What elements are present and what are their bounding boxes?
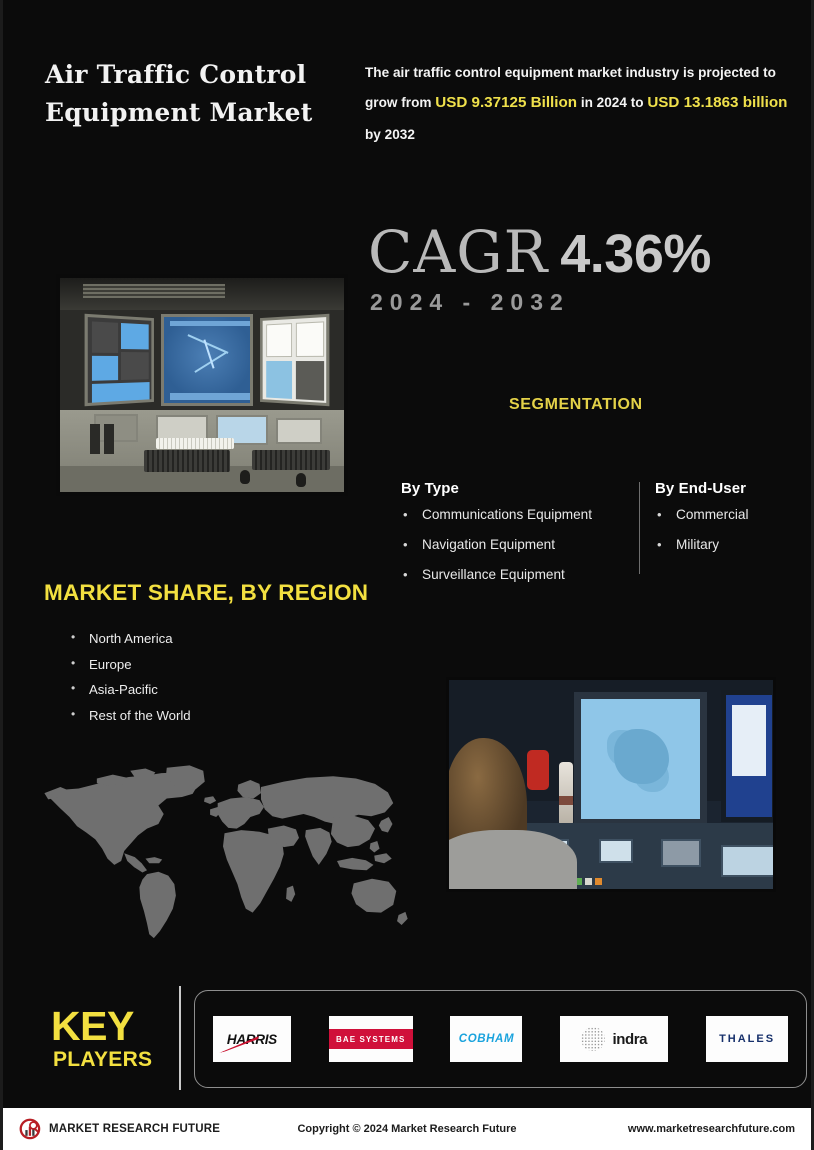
list-item: •North America	[69, 632, 191, 647]
logo-thales[interactable]: THALES	[706, 1016, 788, 1062]
bullet-icon: •	[403, 508, 408, 522]
bullet-icon: •	[71, 682, 75, 695]
list-item: •Surveillance Equipment	[401, 568, 592, 583]
bullet-icon: •	[403, 568, 408, 582]
cagr-block: CAGR4.36%	[368, 218, 711, 286]
by-end-user-heading: By End-User	[655, 480, 749, 497]
atc-workstation-photo	[56, 274, 348, 496]
list-item: •Rest of the World	[69, 709, 191, 724]
page-title: Air Traffic Control Equipment Market	[45, 56, 345, 132]
region-item-2: Asia-Pacific	[89, 682, 158, 697]
by-type-heading: By Type	[401, 480, 592, 497]
region-item-1: Europe	[89, 657, 132, 672]
world-map	[33, 760, 413, 945]
market-summary-text: The air traffic control equipment market…	[365, 58, 801, 149]
segmentation-column-by-type: By Type •Communications Equipment •Navig…	[401, 480, 592, 598]
by-end-user-item-1: Military	[676, 537, 719, 552]
bullet-icon: •	[657, 538, 662, 552]
cagr-period: 2024 - 2032	[370, 289, 570, 316]
bullet-icon: •	[71, 657, 75, 670]
key-players-label-top: KEY	[51, 1003, 134, 1050]
list-item: •Navigation Equipment	[401, 538, 592, 553]
summary-part-2: in 2024 to	[577, 95, 647, 110]
segmentation-heading: SEGMENTATION	[509, 396, 643, 414]
cagr-label: CAGR	[368, 218, 548, 286]
bullet-icon: •	[71, 708, 75, 721]
list-item: •Asia-Pacific	[69, 683, 191, 698]
segmentation-divider	[639, 482, 640, 574]
summary-part-3: by 2032	[365, 127, 415, 142]
indra-dot-circle-icon	[581, 1027, 605, 1051]
by-end-user-item-0: Commercial	[676, 507, 749, 522]
market-share-heading: MARKET SHARE, BY REGION	[44, 580, 368, 606]
bullet-icon: •	[657, 508, 662, 522]
list-item: •Commercial	[655, 508, 749, 523]
region-item-0: North America	[89, 631, 173, 646]
logo-cobham-text: COBHAM	[459, 1033, 514, 1045]
by-type-list: •Communications Equipment •Navigation Eq…	[401, 508, 592, 583]
bullet-icon: •	[403, 538, 408, 552]
region-item-3: Rest of the World	[89, 708, 191, 723]
list-item: •Europe	[69, 658, 191, 673]
atc-controller-photo	[446, 677, 776, 892]
logo-harris[interactable]: HARRIS	[213, 1016, 291, 1062]
logo-indra-text: indra	[612, 1031, 647, 1048]
logo-thales-text: THALES	[719, 1033, 775, 1045]
by-type-item-0: Communications Equipment	[422, 507, 592, 522]
footer: MARKET RESEARCH FUTURE Copyright © 2024 …	[3, 1108, 811, 1150]
logo-bae-systems[interactable]: BAE SYSTEMS	[329, 1016, 413, 1062]
segmentation-column-by-end-user: By End-User •Commercial •Military	[655, 480, 749, 568]
by-type-item-2: Surveillance Equipment	[422, 567, 565, 582]
footer-url[interactable]: www.marketresearchfuture.com	[628, 1123, 795, 1135]
cagr-value: 4.36%	[560, 224, 711, 284]
bullet-icon: •	[71, 631, 75, 644]
logo-cobham[interactable]: COBHAM	[450, 1016, 522, 1062]
key-players-logo-row: HARRIS BAE SYSTEMS COBHAM indra THALES	[194, 990, 807, 1088]
market-share-region-list: •North America •Europe •Asia-Pacific •Re…	[69, 632, 191, 734]
infographic-page: Air Traffic Control Equipment Market The…	[0, 0, 814, 1150]
by-end-user-list: •Commercial •Military	[655, 508, 749, 553]
market-value-2032: USD 13.1863 billion	[647, 94, 787, 111]
market-value-2024: USD 9.37125 Billion	[435, 94, 577, 111]
list-item: •Communications Equipment	[401, 508, 592, 523]
logo-bae-text: BAE SYSTEMS	[336, 1035, 405, 1044]
logo-indra[interactable]: indra	[560, 1016, 668, 1062]
key-players-label-bottom: PLAYERS	[53, 1048, 152, 1072]
by-type-item-1: Navigation Equipment	[422, 537, 555, 552]
logo-harris-text: HARRIS	[227, 1032, 277, 1047]
key-players-divider	[179, 986, 181, 1090]
list-item: •Military	[655, 538, 749, 553]
